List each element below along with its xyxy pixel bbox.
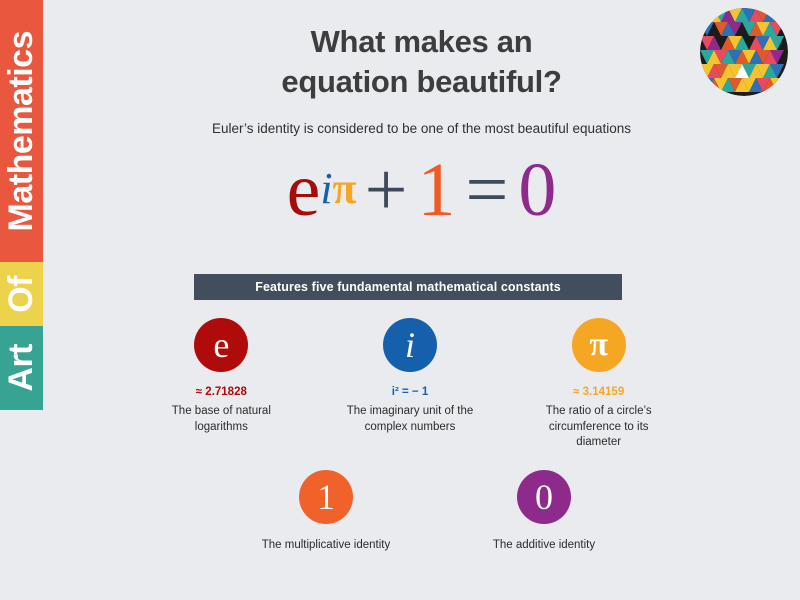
equation-term-e: e — [287, 148, 321, 232]
brand-sidebar: Mathematics Of Art — [0, 0, 43, 410]
constant-caption-pi: The ratio of a circle’s circumference to… — [529, 404, 669, 451]
constant-circle-pi: π — [572, 318, 626, 372]
brand-segment-art-label: Art — [0, 344, 43, 392]
brand-segment-of-label: Of — [0, 276, 43, 313]
constant-circle-zero: 0 — [517, 470, 571, 524]
constant-caption-one: The multiplicative identity — [256, 538, 396, 554]
equation-term-zero: 0 — [518, 148, 556, 232]
constant-circle-i: i — [383, 318, 437, 372]
brand-segment-art: Art — [0, 326, 43, 410]
equation-term-i: i — [320, 164, 332, 213]
constant-card-e: e ≈ 2.71828 The base of natural logarith… — [150, 318, 293, 451]
constant-value-i: i² = − 1 — [392, 386, 428, 400]
constant-value-e: ≈ 2.71828 — [196, 386, 247, 400]
constant-caption-zero: The additive identity — [474, 538, 614, 554]
constant-circle-e: e — [194, 318, 248, 372]
constant-card-i: i i² = − 1 The imaginary unit of the com… — [339, 318, 482, 451]
brand-segment-mathematics: Mathematics — [0, 0, 43, 262]
constants-row-top: e ≈ 2.71828 The base of natural logarith… — [150, 318, 670, 451]
brand-segment-of: Of — [0, 262, 43, 326]
brand-segment-mathematics-label: Mathematics — [0, 31, 43, 231]
constant-caption-e: The base of natural logarithms — [151, 404, 291, 435]
equation-term-pi: π — [333, 164, 357, 213]
constant-circle-one: 1 — [299, 470, 353, 524]
features-banner-label: Features five fundamental mathematical c… — [255, 280, 561, 294]
page-subtitle: Euler’s identity is considered to be one… — [43, 121, 800, 136]
page-title: What makes an equation beautiful? — [43, 22, 800, 101]
equation-operator-plus: + — [365, 148, 408, 232]
constant-value-pi: ≈ 3.14159 — [573, 386, 624, 400]
equation-exponent: iπ — [320, 164, 356, 213]
equation-term-one: 1 — [418, 148, 456, 232]
features-banner: Features five fundamental mathematical c… — [194, 274, 622, 300]
euler-identity-equation: eiπ+1=0 — [43, 152, 800, 228]
page-title-line-2: equation beautiful? — [43, 62, 800, 102]
constant-caption-i: The imaginary unit of the complex number… — [340, 404, 480, 435]
constant-card-one: 1 The multiplicative identity — [250, 470, 402, 554]
constants-row-bottom: 1 The multiplicative identity 0 The addi… — [245, 470, 625, 554]
equation-operator-equals: = — [466, 148, 509, 232]
constant-card-pi: π ≈ 3.14159 The ratio of a circle’s circ… — [527, 318, 670, 451]
page-title-line-1: What makes an — [43, 22, 800, 62]
constant-card-zero: 0 The additive identity — [468, 470, 620, 554]
